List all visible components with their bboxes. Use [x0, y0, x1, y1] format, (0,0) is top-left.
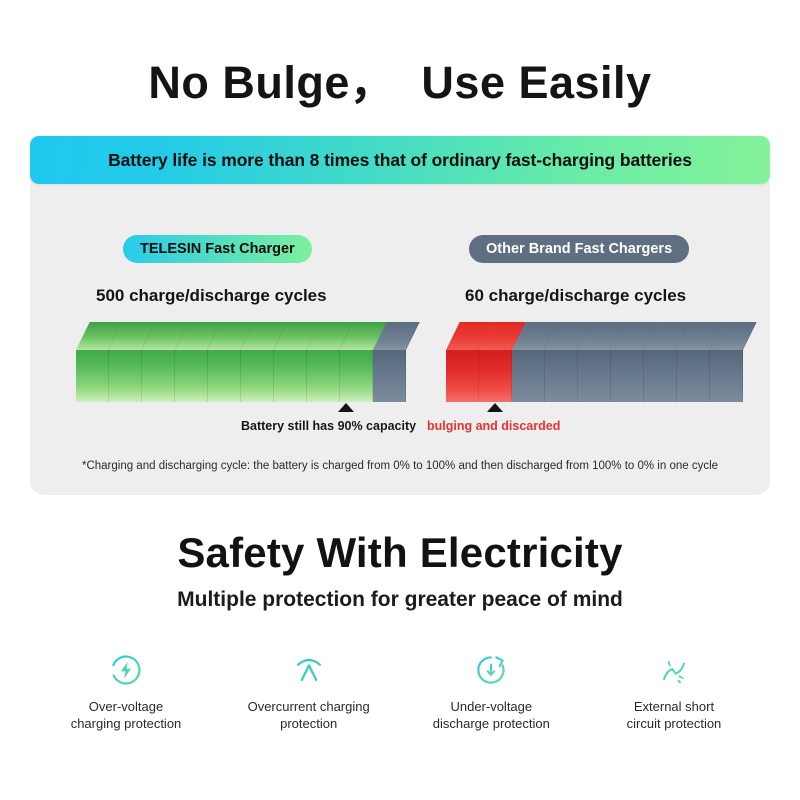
page-title: No Bulge， Use Easily [0, 46, 800, 111]
battery-cell-gray [710, 350, 743, 402]
battery-cell-front-face [175, 350, 208, 402]
battery-cell-green [142, 350, 175, 402]
protection-features-row: Over-voltage charging protection Overcur… [40, 652, 760, 732]
battery-cell-green [274, 350, 307, 402]
badge-other-label: Other Brand Fast Chargers [486, 241, 672, 257]
battery-cell-front-face [512, 350, 545, 402]
battery-cell-green [76, 350, 109, 402]
marker-caption-other: bulging and discarded [427, 419, 560, 433]
battery-cell-front-face [545, 350, 578, 402]
battery-cell-green [241, 350, 274, 402]
battery-cell-front-face [208, 350, 241, 402]
badge-telesin-fast-charger: TELESIN Fast Charger [123, 235, 312, 263]
battery-cell-gray [512, 350, 545, 402]
feature-under-voltage-protection: Under-voltage discharge protection [405, 652, 577, 732]
feature-label-over-voltage: Over-voltage charging protection [71, 698, 182, 732]
badge-other-brand-chargers: Other Brand Fast Chargers [469, 235, 689, 263]
battery-cell-green [109, 350, 142, 402]
feature-short-circuit-protection: External short circuit protection [588, 652, 760, 732]
feature-label-overcurrent: Overcurrent charging protection [248, 698, 370, 732]
battery-cell-red [446, 350, 479, 402]
battery-cell-gray [644, 350, 677, 402]
marker-arrow-other [487, 403, 503, 412]
feature-overcurrent-protection: Overcurrent charging protection [223, 652, 395, 732]
battery-stack-telesin [76, 322, 378, 402]
highlight-banner-text: Battery life is more than 8 times that o… [108, 150, 692, 171]
battery-cell-front-face [578, 350, 611, 402]
battery-cell-gray [677, 350, 710, 402]
battery-cell-front-face [109, 350, 142, 402]
brand-badge-row: TELESIN Fast Charger Other Brand Fast Ch… [0, 235, 800, 265]
battery-cell-front-face [710, 350, 743, 402]
battery-cell-green [175, 350, 208, 402]
battery-cell-gray [578, 350, 611, 402]
battery-cell-front-face [446, 350, 479, 402]
battery-cell-green [340, 350, 373, 402]
over-voltage-protection-icon [108, 652, 144, 688]
badge-telesin-label: TELESIN Fast Charger [140, 241, 295, 257]
battery-cell-front-face [373, 350, 406, 402]
battery-cell-front-face [307, 350, 340, 402]
under-voltage-protection-icon [473, 652, 509, 688]
battery-cell-front-face [479, 350, 512, 402]
battery-cell-front-face [677, 350, 710, 402]
cycles-label-other: 60 charge/discharge cycles [465, 286, 686, 306]
battery-cell-green [208, 350, 241, 402]
battery-cell-gray [545, 350, 578, 402]
battery-cell-gray [611, 350, 644, 402]
marker-caption-telesin: Battery still has 90% capacity [241, 419, 416, 433]
battery-cell-front-face [611, 350, 644, 402]
battery-cell-front-face [142, 350, 175, 402]
cycle-footnote: *Charging and discharging cycle: the bat… [0, 460, 800, 472]
highlight-banner: Battery life is more than 8 times that o… [30, 136, 770, 184]
safety-section-title: Safety With Electricity [0, 529, 800, 577]
battery-cell-red [479, 350, 512, 402]
battery-stack-other [446, 322, 738, 402]
marker-arrow-telesin [338, 403, 354, 412]
short-circuit-protection-icon [656, 652, 692, 688]
feature-over-voltage-protection: Over-voltage charging protection [40, 652, 212, 732]
battery-cell-gray [373, 350, 406, 402]
battery-cell-front-face [644, 350, 677, 402]
safety-section-subtitle: Multiple protection for greater peace of… [0, 588, 800, 612]
battery-cell-front-face [241, 350, 274, 402]
feature-label-under-voltage: Under-voltage discharge protection [433, 698, 550, 732]
overcurrent-protection-icon [291, 652, 327, 688]
cycles-label-telesin: 500 charge/discharge cycles [96, 286, 327, 306]
feature-label-short-circuit: External short circuit protection [627, 698, 722, 732]
battery-cell-front-face [274, 350, 307, 402]
battery-cell-front-face [340, 350, 373, 402]
battery-cell-front-face [76, 350, 109, 402]
battery-cell-green [307, 350, 340, 402]
